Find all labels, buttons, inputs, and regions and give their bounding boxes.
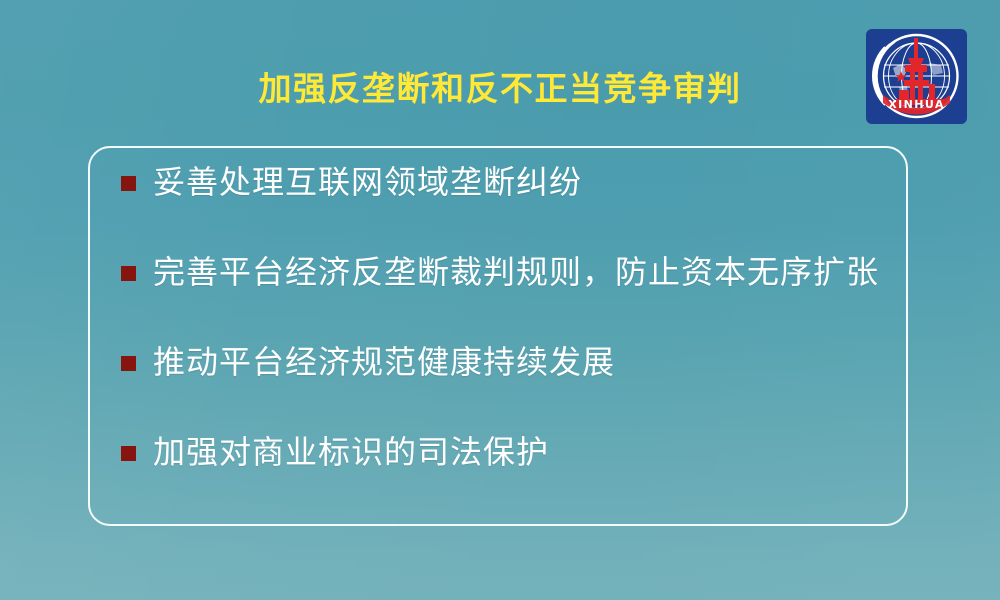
slide-canvas: 加强反垄断和反不正当竞争审判 xyxy=(0,0,1000,600)
bullet-square-icon xyxy=(121,356,136,371)
list-item-label: 妥善处理互联网领域垄断纠纷 xyxy=(153,160,921,204)
bullet-square-icon xyxy=(121,266,136,281)
logo-wordmark: XINHUA xyxy=(888,98,945,111)
page-title: 加强反垄断和反不正当竞争审判 xyxy=(0,69,1000,109)
list-item-label: 加强对商业标识的司法保护 xyxy=(153,430,921,474)
list-item: 完善平台经济反垄断裁判规则，防止资本无序扩张 xyxy=(121,250,921,340)
bullet-list: 妥善处理互联网领域垄断纠纷 完善平台经济反垄断裁判规则，防止资本无序扩张 推动平… xyxy=(121,160,921,520)
list-item: 推动平台经济规范健康持续发展 xyxy=(121,340,921,430)
list-item-label: 推动平台经济规范健康持续发展 xyxy=(153,340,921,384)
xinhua-logo: XINHUA xyxy=(863,27,970,126)
list-item-label: 完善平台经济反垄断裁判规则，防止资本无序扩张 xyxy=(153,250,921,294)
list-item: 妥善处理互联网领域垄断纠纷 xyxy=(121,160,921,250)
bullet-square-icon xyxy=(121,176,136,191)
bullet-square-icon xyxy=(121,446,136,461)
list-item: 加强对商业标识的司法保护 xyxy=(121,430,921,520)
